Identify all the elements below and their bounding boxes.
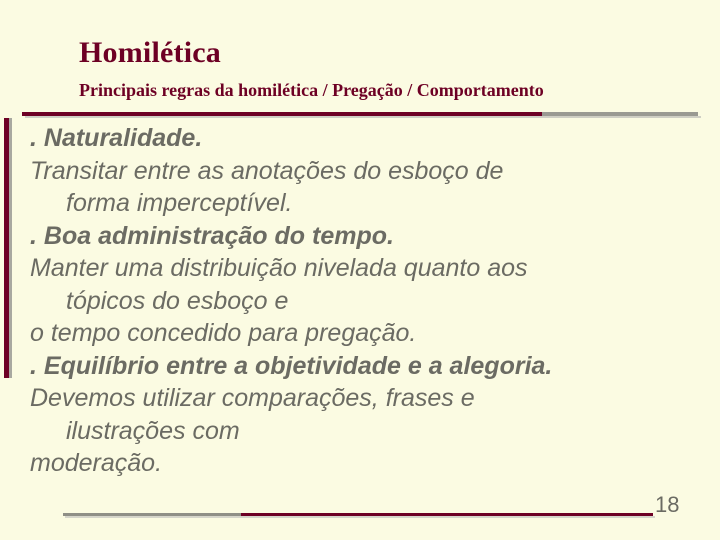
- page-title: Homilética: [79, 36, 221, 70]
- body-line: Manter uma distribuição nivelada quanto …: [30, 252, 690, 285]
- header-divider: [22, 112, 698, 118]
- body-line: . Equilíbrio entre a objetividade e a al…: [30, 350, 690, 383]
- body-line: forma imperceptível.: [30, 187, 690, 220]
- body-line: moderação.: [30, 447, 690, 480]
- body-line: . Boa administração do tempo.: [30, 220, 690, 253]
- left-bar-shadow: [9, 118, 12, 378]
- body-line: Devemos utilizar comparações, frases e: [30, 382, 690, 415]
- left-decoration-bar: [0, 0, 22, 540]
- body-line: . Naturalidade.: [30, 122, 690, 155]
- page-subtitle: Principais regras da homilética / Pregaç…: [79, 80, 544, 101]
- page-number: 18: [655, 492, 679, 518]
- slide-body: . Naturalidade.Transitar entre as anotaç…: [30, 122, 690, 480]
- slide: Homilética Principais regras da homiléti…: [0, 0, 720, 540]
- body-line: ilustrações com: [30, 415, 690, 448]
- footer-divider: [63, 513, 653, 518]
- body-line: Transitar entre as anotações do esboço d…: [30, 155, 690, 188]
- footer-divider-shadow: [65, 516, 655, 518]
- body-line: o tempo concedido para pregação.: [30, 317, 690, 350]
- header-divider-shadow: [25, 116, 701, 118]
- body-line: tópicos do esboço e: [30, 285, 690, 318]
